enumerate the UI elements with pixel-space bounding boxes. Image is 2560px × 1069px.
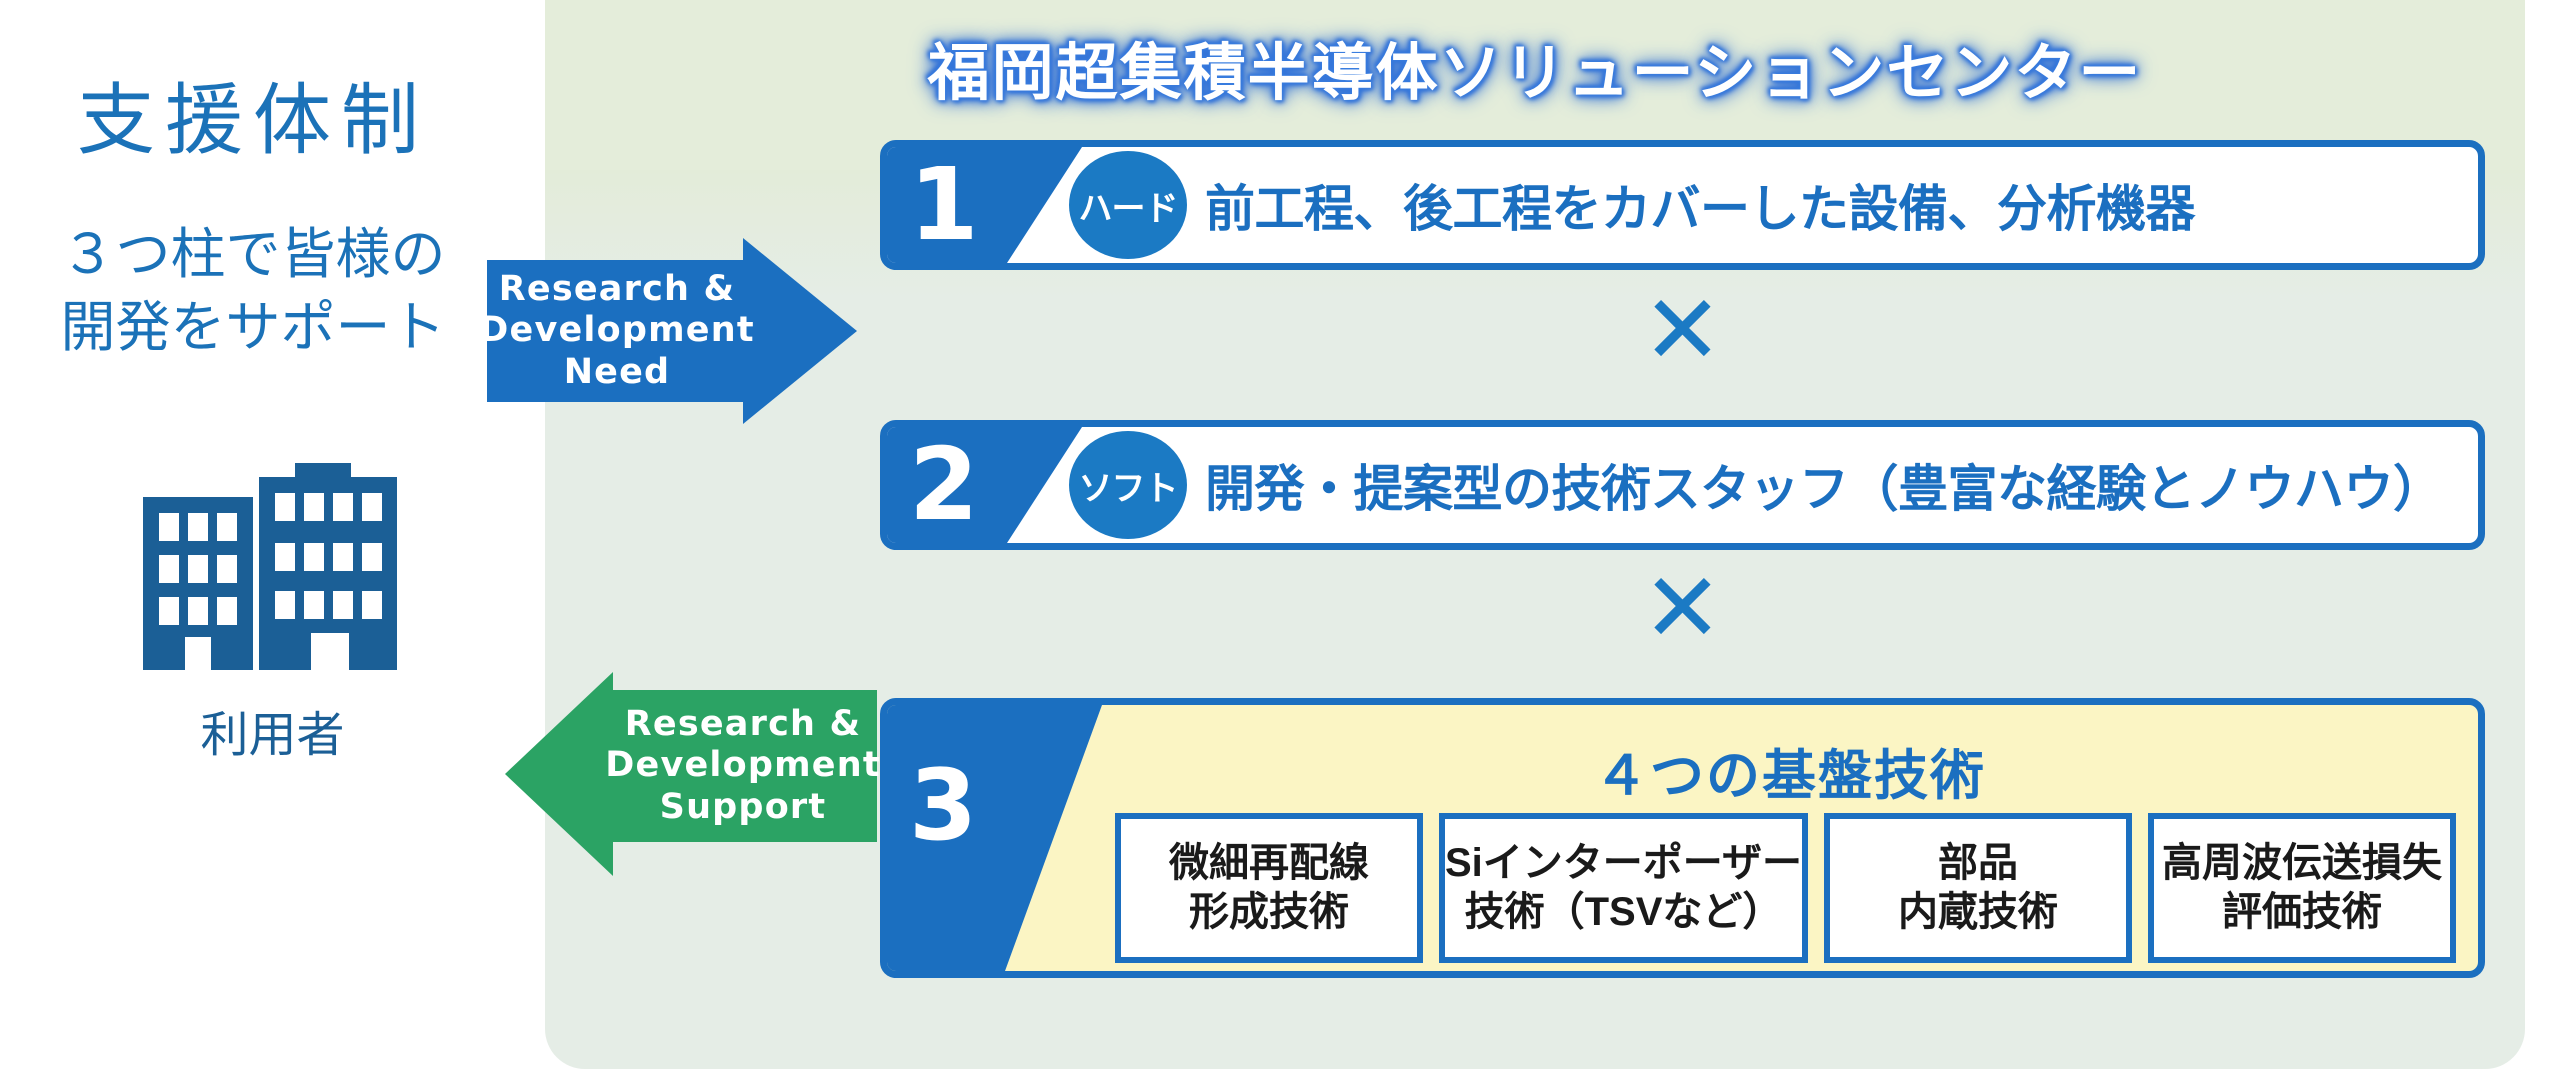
pillar-number-badge-2: 2 [887,427,1082,543]
pillar-row-1: 1 ハード 前工程、後工程をカバーした設備、分析機器 [880,140,2485,270]
pillar-number-badge-3: 3 [887,705,1102,971]
pillar-pill-2: ソフト [1069,431,1187,539]
pillar-pill-1: ハード [1069,151,1187,259]
tech-box-3: 部品 内蔵技術 [1824,813,2132,963]
arrow-left-label: Research & Development Support [609,681,877,851]
arrow-right-icon: Research & Development Need [487,238,857,424]
tech-box-3-line-2: 内蔵技術 [1898,888,2058,937]
center-title: 福岡超集積半導体ソリューションセンター [545,22,2525,112]
multiply-separator-1: ✕ [880,282,2485,378]
tech-box-1: 微細再配線 形成技術 [1115,813,1423,963]
tech-box-1-line-1: 微細再配線 [1169,839,1369,888]
arrow-right-line-1: Research & [499,269,736,310]
arrow-right-head [743,238,857,424]
pillar-number-1: 1 [909,155,979,255]
tech-box-2-line-1: Siインターポーザー [1445,839,1802,888]
page-subtitle: ３つ柱で皆様の 開発をサポート [8,218,498,364]
subtitle-line-2: 開発をサポート [8,291,498,364]
page-title: 支援体制 [18,58,488,170]
tech-box-3-line-1: 部品 [1938,839,2018,888]
arrow-right-line-3: Need [564,352,671,393]
arrow-right-line-2: Development [479,310,755,351]
tech-box-1-line-2: 形成技術 [1189,888,1349,937]
pillar-row-2: 2 ソフト 開発・提案型の技術スタッフ（豊富な経験とノウハウ） [880,420,2485,550]
arrow-left-line-2: Development [605,745,881,786]
arrow-left-line-3: Support [660,787,827,828]
pillar-text-1: 前工程、後工程をカバーした設備、分析機器 [1205,169,2195,241]
pillar-number-3: 3 [909,757,977,855]
tech-box-2: Siインターポーザー 技術（TSVなど） [1439,813,1808,963]
arrow-right-label: Research & Development Need [483,238,751,424]
arrow-left-head [505,672,613,876]
pillar-number-2: 2 [909,435,979,535]
tech-box-4-line-1: 高周波伝送損失 [2162,839,2442,888]
multiply-separator-2: ✕ [880,560,2485,656]
pillar-number-badge-1: 1 [887,147,1082,263]
pillar-text-2: 開発・提案型の技術スタッフ（豊富な経験とノウハウ） [1205,449,2443,521]
arrow-left-icon: Research & Development Support [527,672,877,877]
tech-box-4-line-2: 評価技術 [2222,888,2382,937]
buildings-icon [125,455,415,670]
user-label: 利用者 [0,695,545,765]
arrow-left-line-1: Research & [625,704,862,745]
subtitle-line-1: ３つ柱で皆様の [8,218,498,291]
tech-box-4: 高周波伝送損失 評価技術 [2148,813,2456,963]
foundation-tech-list: 微細再配線 形成技術 Siインターポーザー 技術（TSVなど） 部品 内蔵技術 … [1115,813,2456,963]
tech-box-2-line-2: 技術（TSVなど） [1465,888,1783,937]
left-column: 支援体制 ３つ柱で皆様の 開発をサポート [0,0,545,1069]
foundation-tech-heading: ４つの基盤技術 [1102,731,2478,810]
pillar-row-3: 3 ４つの基盤技術 微細再配線 形成技術 Siインターポーザー 技術（TSVなど… [880,698,2485,978]
